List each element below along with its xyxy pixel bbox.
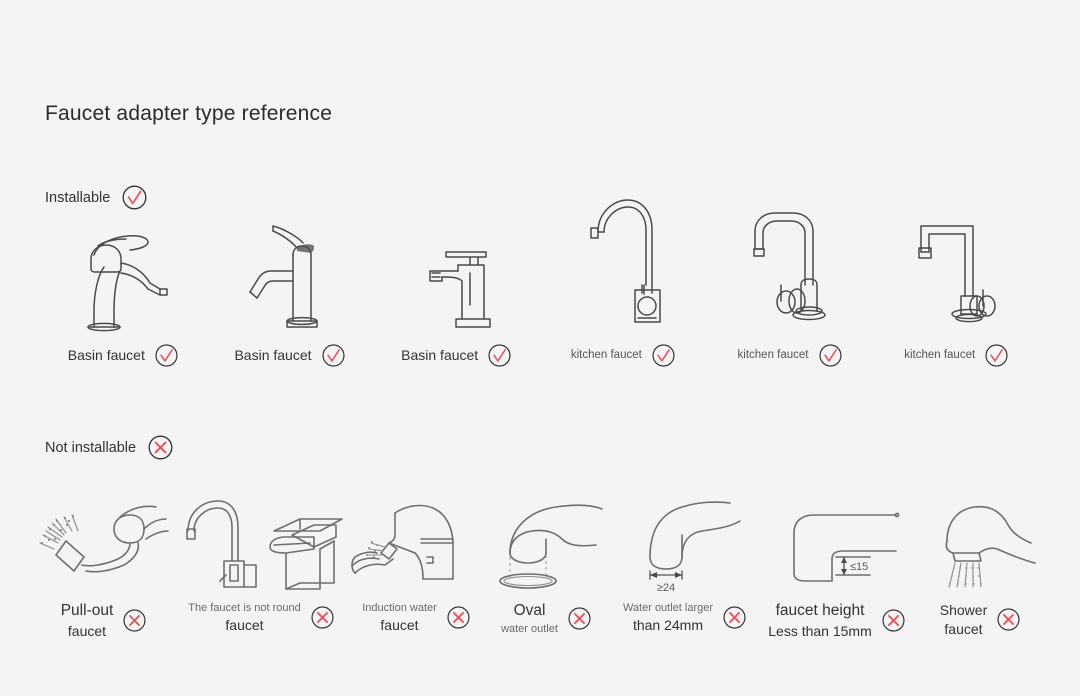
kitchen-faucet-gooseneck-slim-icon [568, 200, 678, 335]
dimension-label: ≤15 [850, 561, 868, 573]
cross-circle-icon [881, 608, 906, 633]
list-item: Basin faucet [373, 200, 540, 368]
item-caption: The faucet is not round faucet [188, 601, 335, 635]
item-caption: Basin faucet [68, 343, 179, 368]
cross-circle-icon [446, 605, 471, 630]
check-circle-icon [487, 343, 512, 368]
item-label: kitchen faucet [738, 348, 809, 364]
item-caption: Pull-out faucet [61, 601, 148, 641]
item-caption: faucet height Less than 15mm [768, 601, 906, 641]
section-label-not-installable: Not installable [45, 440, 136, 456]
item-label: Basin faucet [401, 346, 478, 365]
item-caption: Shower faucet [940, 601, 1021, 639]
item-caption: Water outlet larger than 24mm [623, 601, 747, 635]
faucet-adapter-reference-page: Faucet adapter type reference Installabl… [0, 0, 1080, 696]
shower-head-faucet-icon [913, 490, 1048, 595]
item-caption: kitchen faucet [571, 343, 676, 368]
kitchen-faucet-bridge-round-icon [733, 200, 848, 335]
list-item: ≥24 Water outlet larger than 24mm [609, 490, 761, 641]
item-label: Pull-out [61, 601, 114, 622]
item-label: faucet height [776, 601, 865, 622]
item-sublabel: Less than 15mm [768, 622, 872, 641]
item-caption: kitchen faucet [904, 343, 1009, 368]
list-item: Induction water faucet [349, 490, 484, 641]
oval-outlet-faucet-icon [484, 490, 609, 595]
cross-circle-icon [996, 607, 1021, 632]
basin-faucet-curved-lever-icon [68, 200, 178, 335]
item-caption: Basin faucet [234, 343, 345, 368]
list-item: The faucet is not round faucet [174, 490, 349, 641]
pull-out-sprayer-faucet-icon [34, 490, 174, 595]
not-installable-items-row: Pull-out faucet [34, 490, 1048, 641]
list-item: kitchen faucet [873, 200, 1040, 368]
list-item: Shower faucet [913, 490, 1048, 641]
kitchen-faucet-square-spout-icon [899, 200, 1014, 335]
item-label: Oval [514, 601, 546, 622]
list-item: kitchen faucet [540, 200, 707, 368]
cross-circle-icon [722, 605, 747, 630]
item-sublabel: water outlet [501, 622, 558, 637]
page-title: Faucet adapter type reference [45, 102, 332, 126]
check-circle-icon [984, 343, 1009, 368]
wide-outlet-faucet-icon: ≥24 [620, 490, 750, 595]
item-label: Water outlet larger [623, 601, 713, 616]
cross-circle-icon [122, 608, 147, 633]
item-caption: Induction water faucet [362, 601, 471, 635]
item-sublabel: faucet [68, 622, 106, 641]
check-circle-icon [651, 343, 676, 368]
check-circle-icon [154, 343, 179, 368]
list-item: Pull-out faucet [34, 490, 174, 641]
item-sublabel: faucet [944, 620, 982, 639]
item-label: Shower [940, 601, 987, 620]
item-label: Basin faucet [234, 346, 311, 365]
non-round-square-faucets-icon [174, 490, 349, 595]
induction-sensor-faucet-icon [349, 490, 484, 595]
installable-items-row: Basin faucet [40, 200, 1040, 368]
item-caption: Basin faucet [401, 343, 512, 368]
item-sublabel: faucet [380, 616, 418, 635]
item-caption: Oval water outlet [501, 601, 592, 637]
item-sublabel: than 24mm [633, 616, 703, 635]
cross-circle-icon [147, 434, 174, 461]
basin-faucet-square-flat-icon [402, 200, 512, 335]
section-header-not-installable: Not installable [45, 434, 174, 461]
cross-circle-icon [310, 605, 335, 630]
item-label: kitchen faucet [571, 348, 642, 364]
item-label: Basin faucet [68, 346, 145, 365]
cross-circle-icon [567, 606, 592, 631]
item-label: kitchen faucet [904, 348, 975, 364]
low-height-faucet-icon: ≤15 [770, 490, 905, 595]
dimension-label: ≥24 [657, 582, 675, 594]
check-circle-icon [818, 343, 843, 368]
list-item: Basin faucet [40, 200, 207, 368]
list-item: ≤15 faucet height Less than 15mm [761, 490, 913, 641]
basin-faucet-tall-lever-icon [235, 200, 345, 335]
check-circle-icon [321, 343, 346, 368]
item-sublabel: faucet [225, 616, 263, 635]
item-caption: kitchen faucet [738, 343, 843, 368]
list-item: Oval water outlet [484, 490, 609, 641]
list-item: Basin faucet [207, 200, 374, 368]
item-label: The faucet is not round [188, 601, 301, 616]
list-item: kitchen faucet [707, 200, 874, 368]
item-label: Induction water [362, 601, 437, 616]
